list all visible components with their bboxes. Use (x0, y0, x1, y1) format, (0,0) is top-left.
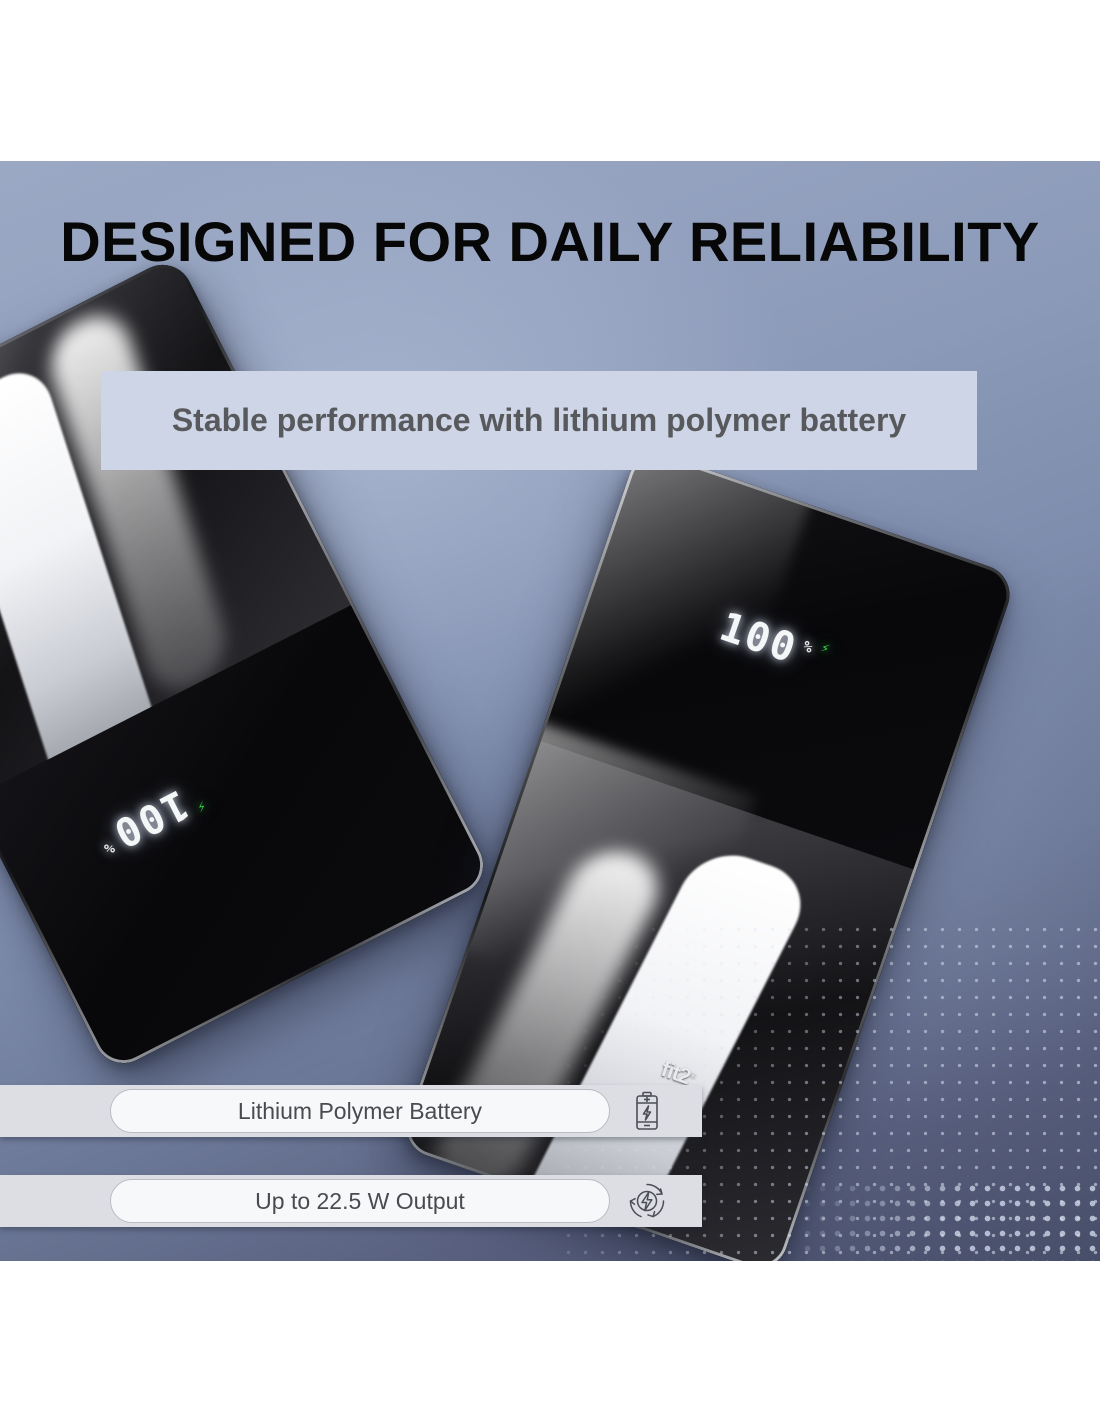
power-bank-right: 100 % ⚡ fit2® (398, 446, 1017, 1261)
halftone-mesh-pattern (800, 1181, 1100, 1261)
charging-indicator-icon: ⚡ (819, 641, 833, 658)
power-bank-right-body: 100 % ⚡ fit2® (398, 446, 1017, 1261)
subtitle-text: Stable performance with lithium polymer … (152, 402, 926, 440)
led-readout: ⚡ 100 % (91, 777, 208, 862)
feature-bar-lithium-polymer-battery: Lithium Polymer Battery (0, 1085, 702, 1137)
percent-symbol: % (801, 639, 816, 657)
product-feature-banner: fit2® ⚡ 100 % 100 (0, 0, 1100, 1422)
feature-label: Lithium Polymer Battery (238, 1098, 482, 1125)
recycle-bolt-icon (624, 1178, 670, 1224)
feature-label: Up to 22.5 W Output (255, 1188, 465, 1215)
charging-indicator-icon: ⚡ (192, 798, 208, 815)
feature-pill: Up to 22.5 W Output (110, 1179, 610, 1223)
battery-percent-value: 100 (106, 784, 193, 853)
subtitle-banner: Stable performance with lithium polymer … (101, 371, 977, 470)
page-title: DESIGNED FOR DAILY RELIABILITY (0, 212, 1100, 272)
feature-bar-output-power: Up to 22.5 W Output (0, 1175, 702, 1227)
percent-symbol: % (100, 839, 117, 857)
feature-pill: Lithium Polymer Battery (110, 1089, 610, 1133)
battery-bolt-icon (624, 1088, 670, 1134)
